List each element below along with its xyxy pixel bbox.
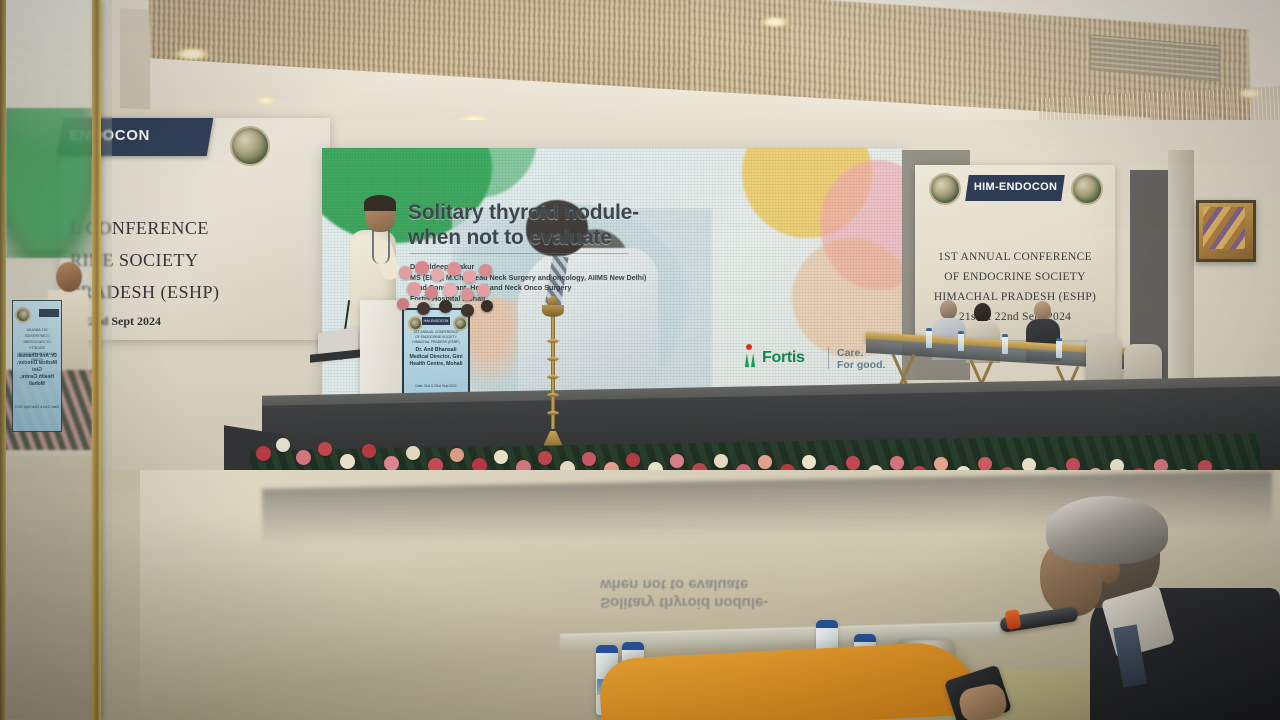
water-bottle (1056, 338, 1062, 358)
speaker-hair (364, 195, 396, 211)
water-bottle (1002, 334, 1008, 354)
podium-display: HIM-ENDOCON 1ST ANNUAL CONFERENCE OF END… (402, 308, 470, 398)
banner-right-line1: 1ST ANNUAL CONFERENCE (915, 251, 1115, 263)
wall-pillar (1168, 150, 1194, 410)
ceiling-downlight (1237, 88, 1263, 99)
reflection-display-speaker: Dr. Anil Bhansali Medical Director, Gini… (15, 353, 59, 388)
society-seal-icon (1071, 173, 1103, 205)
reflection-speaker-head (56, 262, 82, 292)
attendee-hair (1046, 496, 1168, 564)
society-seal-icon (929, 173, 961, 205)
reflection-floor (6, 455, 92, 720)
artwork-canvas (1203, 207, 1245, 249)
banner-right-line2: OF ENDOCRINE SOCIETY (915, 271, 1115, 283)
podium-display-text: 1ST ANNUAL CONFERENCE OF ENDOCRINE SOCIE… (406, 330, 466, 368)
society-seal-icon (453, 316, 468, 331)
glass-frame-left (0, 0, 6, 720)
society-seal-icon (230, 126, 270, 166)
podium-flower-arrangement (395, 258, 500, 318)
microphone-color-band (1005, 609, 1022, 630)
reflection-display-tab (39, 309, 59, 317)
panelist-head (974, 303, 991, 322)
panelist-head (940, 300, 957, 319)
banner-right-tab-label: HIM-ENDOCON (968, 175, 1064, 193)
conference-hall-photo: ENDOCON L CONFERENCE RINE SOCIETY PRADES… (0, 0, 1280, 720)
podium-display-heading: 1ST ANNUAL CONFERENCE OF ENDOCRINE SOCIE… (406, 330, 466, 345)
podium-display-tab: HIM-ENDOCON (422, 317, 450, 325)
reflection-society-seal-icon (15, 307, 31, 323)
glass-frame-brass (92, 0, 101, 720)
podium-display-date: Date: 21st & 22nd Sept 2024 (406, 384, 466, 388)
society-seal-icon (408, 316, 423, 331)
ceiling-downlight (760, 16, 790, 28)
reflection-podium-display: 1ST ANNUAL CONFERENCE OF ENDOCRINE SOCIE… (12, 300, 62, 432)
ceiling-downlight (255, 96, 277, 105)
reflection-display-date: Date: 21st & 22nd Sept 2024 (15, 405, 59, 409)
glass-glare (6, 0, 92, 250)
banner-right-tab: HIM-ENDOCON (965, 175, 1065, 201)
podium-display-speaker: Dr. Anil Bhansali Medical Director, Gini… (406, 347, 466, 368)
ceiling-downlight (173, 47, 211, 61)
water-bottle (958, 331, 964, 351)
panelist-head (1034, 301, 1051, 320)
water-bottle (926, 328, 932, 348)
slide-title-floor-reflection: Solitary thyroid nodule- when not to eva… (600, 575, 900, 611)
framed-artwork (1196, 200, 1256, 262)
speaker-lanyard (372, 230, 390, 264)
lamp-bowl (542, 305, 564, 317)
